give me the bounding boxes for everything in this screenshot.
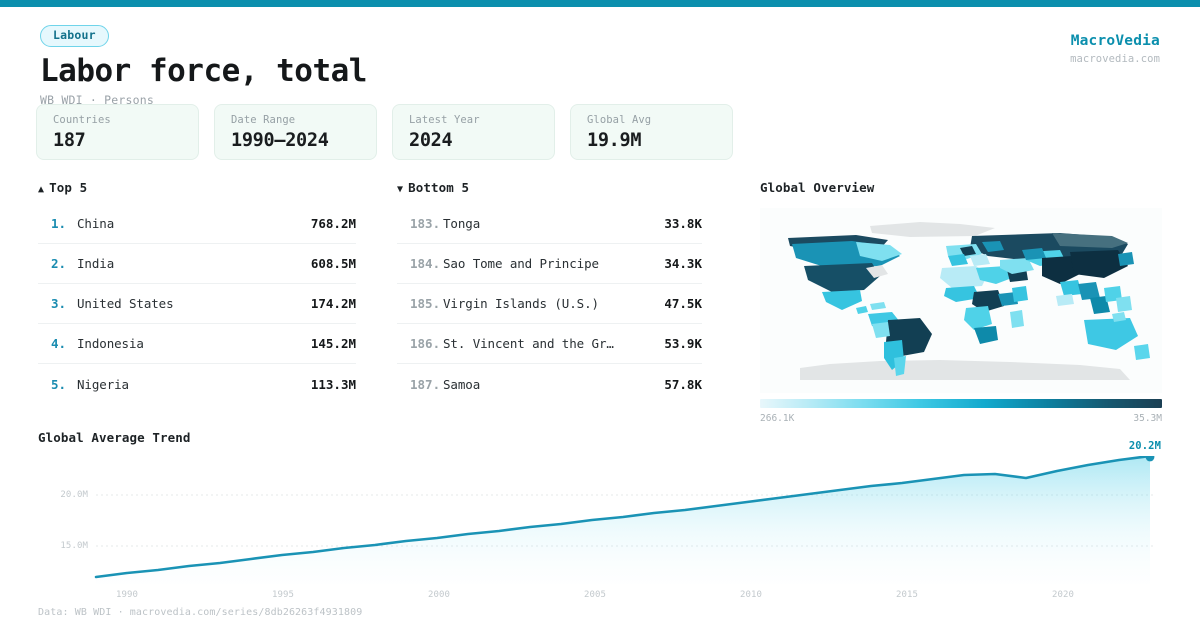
- country-value: 145.2M: [311, 336, 356, 351]
- stat-card-countries: Countries 187: [36, 104, 199, 160]
- rank: 2.: [51, 256, 77, 271]
- x-axis-tick-label: 1995: [272, 590, 294, 600]
- country-value: 57.8K: [664, 377, 702, 392]
- country-value: 174.2M: [311, 296, 356, 311]
- legend-max-value: 35.3M: [1133, 413, 1162, 424]
- brand-name: MacroVedia: [1070, 33, 1160, 49]
- world-choropleth-map[interactable]: [760, 208, 1162, 393]
- country-value: 33.8K: [664, 216, 702, 231]
- country-name: United States: [77, 296, 303, 311]
- bottom-5-heading: ▼Bottom 5: [397, 180, 702, 195]
- country-value: 113.3M: [311, 377, 356, 392]
- stat-value: 1990–2024: [231, 130, 360, 151]
- map-oceania: [1084, 312, 1150, 360]
- legend-min-value: 266.1K: [760, 413, 794, 424]
- country-name: India: [77, 256, 303, 271]
- map-legend-labels: 266.1K 35.3M: [760, 413, 1162, 424]
- country-name: Indonesia: [77, 336, 303, 351]
- top-accent-bar: [0, 0, 1200, 7]
- stat-value: 19.9M: [587, 130, 716, 151]
- table-row[interactable]: 186. St. Vincent and the Gr… 53.9K: [397, 324, 702, 364]
- country-name: Virgin Islands (U.S.): [443, 296, 656, 311]
- country-value: 608.5M: [311, 256, 356, 271]
- table-row[interactable]: 1. China 768.2M: [38, 204, 356, 244]
- footer-source: Data: WB WDI · macrovedia.com/series/8db…: [38, 607, 362, 618]
- caret-down-icon: ▼: [397, 184, 403, 195]
- top-5-heading-label: Top 5: [49, 180, 87, 195]
- page-header: Labour Labor force, total WB WDI · Perso…: [40, 24, 367, 107]
- rank: 185.: [410, 296, 443, 311]
- bottom-5-heading-label: Bottom 5: [408, 180, 469, 195]
- stat-card-global-avg: Global Avg 19.9M: [570, 104, 733, 160]
- rank: 5.: [51, 377, 77, 392]
- stat-label: Latest Year: [409, 114, 538, 127]
- country-name: Samoa: [443, 377, 656, 392]
- stat-card-date-range: Date Range 1990–2024: [214, 104, 377, 160]
- rank: 1.: [51, 216, 77, 231]
- table-row[interactable]: 183. Tonga 33.8K: [397, 204, 702, 244]
- y-axis-tick-label: 20.0M: [40, 490, 88, 500]
- page-title: Labor force, total: [40, 54, 367, 89]
- table-row[interactable]: 5. Nigeria 113.3M: [38, 364, 356, 404]
- x-axis-tick-label: 2020: [1052, 590, 1074, 600]
- country-name: Nigeria: [77, 377, 303, 392]
- table-row[interactable]: 3. United States 174.2M: [38, 284, 356, 324]
- top-5-panel: ▲Top 5 1. China 768.2M 2. India 608.5M 3…: [38, 180, 356, 404]
- map-title: Global Overview: [760, 180, 1162, 195]
- trend-chart-svg: [38, 456, 1162, 584]
- stat-label: Date Range: [231, 114, 360, 127]
- infographic-page: Labour Labor force, total WB WDI · Perso…: [0, 0, 1200, 630]
- y-axis-tick-label: 15.0M: [40, 541, 88, 551]
- table-row[interactable]: 2. India 608.5M: [38, 244, 356, 284]
- rank: 184.: [410, 256, 443, 271]
- brand-block: MacroVedia macrovedia.com: [1070, 33, 1160, 65]
- caret-up-icon: ▲: [38, 184, 44, 195]
- trend-chart[interactable]: 20.0M 15.0M 1990 1995 2000 2005 2010 201…: [38, 456, 1162, 584]
- stat-value: 187: [53, 130, 182, 151]
- map-africa: [940, 266, 1028, 344]
- rank: 4.: [51, 336, 77, 351]
- x-axis-tick-label: 2000: [428, 590, 450, 600]
- table-row[interactable]: 184. Sao Tome and Principe 34.3K: [397, 244, 702, 284]
- rank: 3.: [51, 296, 77, 311]
- global-average-trend-panel: Global Average Trend: [38, 430, 1162, 584]
- x-axis-tick-label: 1990: [116, 590, 138, 600]
- map-svg: [760, 208, 1162, 393]
- country-value: 53.9K: [664, 336, 702, 351]
- category-badge: Labour: [40, 25, 109, 47]
- table-row[interactable]: 4. Indonesia 145.2M: [38, 324, 356, 364]
- bottom-5-panel: ▼Bottom 5 183. Tonga 33.8K 184. Sao Tome…: [397, 180, 702, 404]
- x-axis-tick-label: 2015: [896, 590, 918, 600]
- map-asia: [1042, 250, 1134, 314]
- country-name: China: [77, 216, 303, 231]
- brand-url: macrovedia.com: [1070, 53, 1160, 65]
- map-north-america: [792, 241, 902, 314]
- map-legend-gradient: [760, 399, 1162, 408]
- stat-label: Global Avg: [587, 114, 716, 127]
- map-arctic: [870, 222, 995, 237]
- x-axis-tick-label: 2010: [740, 590, 762, 600]
- trend-endpoint-label: 20.2M: [1129, 440, 1161, 452]
- stat-card-latest-year: Latest Year 2024: [392, 104, 555, 160]
- table-row[interactable]: 187. Samoa 57.8K: [397, 364, 702, 404]
- rank: 186.: [410, 336, 443, 351]
- stat-card-group: Countries 187 Date Range 1990–2024 Lates…: [36, 104, 733, 160]
- rank: 187.: [410, 377, 443, 392]
- top-5-heading: ▲Top 5: [38, 180, 356, 195]
- map-antarctica: [800, 360, 1130, 380]
- table-row[interactable]: 185. Virgin Islands (U.S.) 47.5K: [397, 284, 702, 324]
- x-axis-tick-label: 2005: [584, 590, 606, 600]
- country-value: 768.2M: [311, 216, 356, 231]
- stat-label: Countries: [53, 114, 182, 127]
- global-overview-panel: Global Overview: [760, 180, 1162, 424]
- country-name: St. Vincent and the Gr…: [443, 336, 656, 351]
- country-value: 34.3K: [664, 256, 702, 271]
- country-value: 47.5K: [664, 296, 702, 311]
- trend-title: Global Average Trend: [38, 430, 1162, 445]
- country-name: Tonga: [443, 216, 656, 231]
- rank: 183.: [410, 216, 443, 231]
- country-name: Sao Tome and Principe: [443, 256, 656, 271]
- stat-value: 2024: [409, 130, 538, 151]
